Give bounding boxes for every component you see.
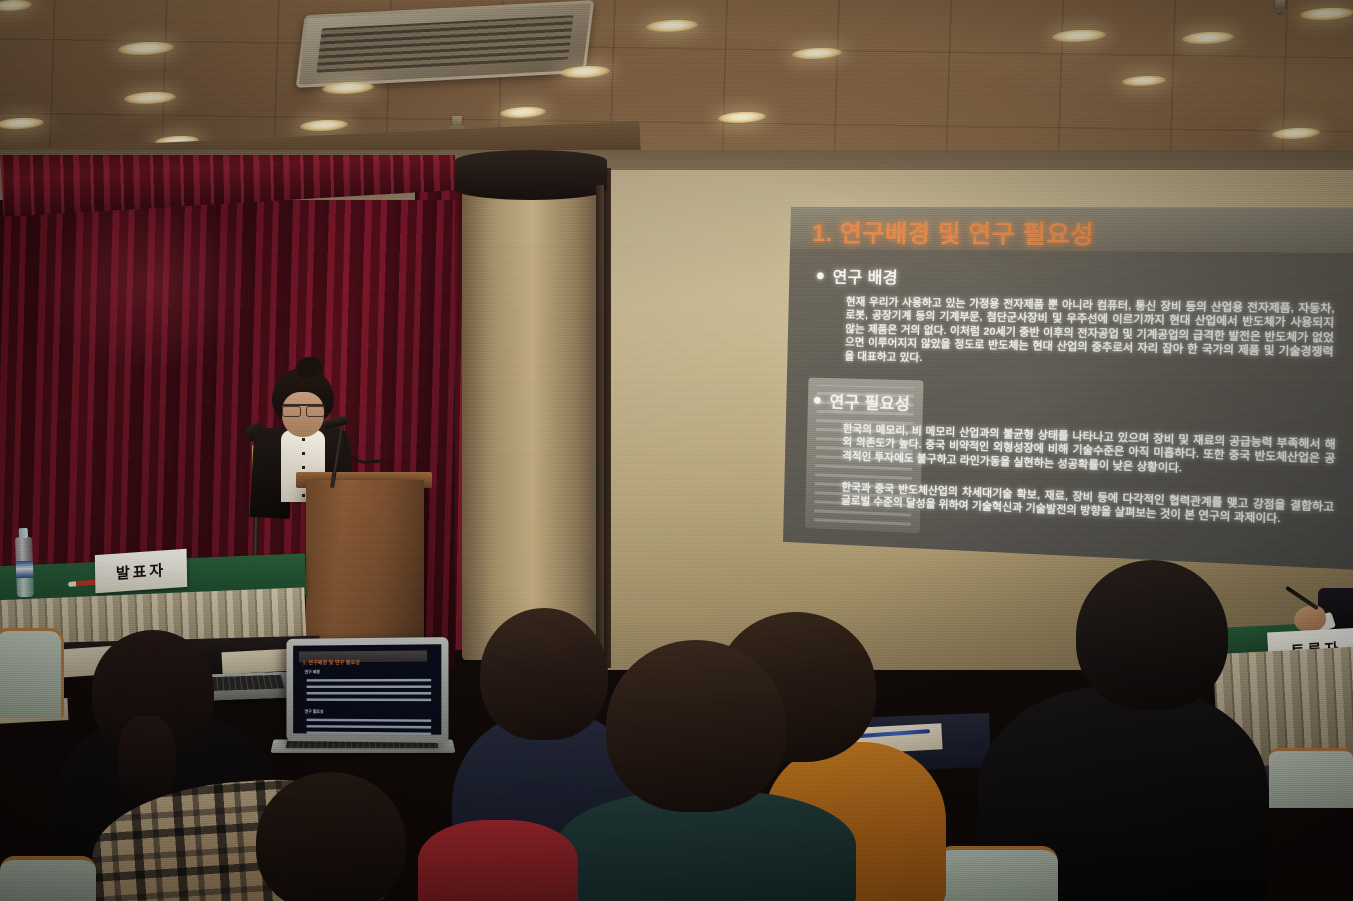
slide-bullet-1: 연구 배경 bbox=[817, 263, 899, 288]
laptop-slide-title: 1. 연구배경 및 연구 필요성 bbox=[299, 660, 360, 666]
laptop-slide-bullet-2: 연구 필요성 bbox=[305, 709, 324, 715]
laptop-presenter-view[interactable]: 1. 연구배경 및 연구 필요성 연구 배경 연구 필요성 bbox=[262, 638, 448, 768]
water-bottle-label bbox=[16, 561, 34, 579]
glasses-icon bbox=[282, 404, 325, 413]
projected-slide: 1. 연구배경 및 연구 필요성 연구 배경 현재 우리가 사용하고 있는 가정… bbox=[783, 207, 1353, 570]
laptop-slide-title-band: 1. 연구배경 및 연구 필요성 bbox=[299, 650, 427, 662]
room-pillar bbox=[462, 160, 602, 660]
slide-bullet-1-paragraph-1: 현재 우리가 사용하고 있는 가정용 전자제품 뿐 아니라 컴퓨터, 통신 장비… bbox=[831, 296, 1335, 375]
presentation-room-photo: 1. 연구배경 및 연구 필요성 연구 배경 현재 우리가 사용하고 있는 가정… bbox=[0, 0, 1353, 901]
audience-person-head bbox=[606, 640, 786, 812]
slide-bullet-1-label: 연구 배경 bbox=[832, 263, 898, 288]
slide-paragraph-text: 현재 우리가 사용하고 있는 가정용 전자제품 뿐 아니라 컴퓨터, 통신 장비… bbox=[831, 296, 1335, 375]
pillar-cap bbox=[455, 150, 607, 200]
water-bottle bbox=[15, 537, 34, 598]
laptop-slide-bullet-1: 연구 배경 bbox=[305, 669, 320, 675]
slide-title: 1. 연구배경 및 연구 필요성 bbox=[812, 213, 1095, 250]
laptop-slide-text-block bbox=[307, 719, 432, 735]
audience-person-torso bbox=[418, 820, 578, 901]
placard-presenter: 발표자 bbox=[95, 549, 187, 593]
pillar-right-edge bbox=[596, 185, 604, 655]
curtain-highlight bbox=[40, 195, 260, 375]
chair-back bbox=[1269, 748, 1353, 808]
slide-bullet-2: 연구 필요성 bbox=[814, 388, 911, 415]
podium: NOVOTEL AMBASSADOR bbox=[306, 480, 424, 650]
laptop-screen: 1. 연구배경 및 연구 필요성 연구 배경 연구 필요성 bbox=[293, 644, 441, 735]
chair-back bbox=[936, 846, 1058, 901]
audience-person-head bbox=[480, 608, 608, 740]
bullet-dot-icon bbox=[817, 272, 824, 279]
slide-bullet-2-label: 연구 필요성 bbox=[829, 388, 910, 415]
chair-back bbox=[0, 628, 64, 718]
chair-back bbox=[0, 856, 96, 901]
audience-person-head bbox=[256, 772, 406, 901]
laptop-lid: 1. 연구배경 및 연구 필요성 연구 배경 연구 필요성 bbox=[286, 637, 448, 743]
audience-person-head bbox=[1076, 560, 1228, 710]
bullet-dot-icon bbox=[814, 396, 821, 403]
placard-presenter-label: 발표자 bbox=[116, 559, 167, 584]
laptop-slide-text-block bbox=[307, 679, 432, 705]
